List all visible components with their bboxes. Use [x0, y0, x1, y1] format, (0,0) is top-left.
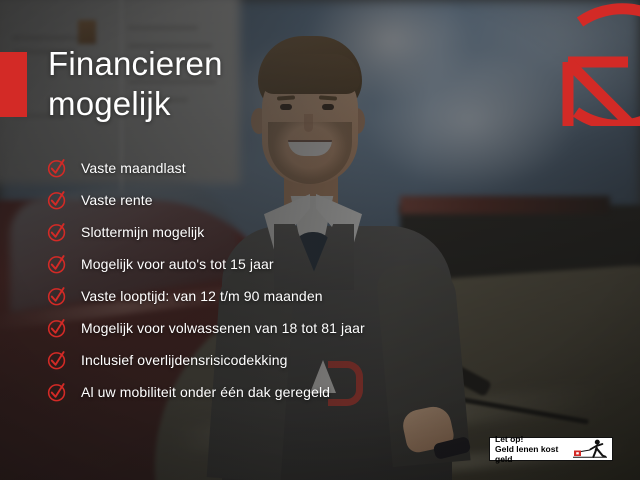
list-item: Vaste rente [46, 189, 365, 211]
check-circle-icon [46, 189, 68, 211]
list-item-label: Al uw mobiliteit onder één dak geregeld [81, 384, 330, 400]
list-item-label: Vaste looptijd: van 12 t/m 90 maanden [81, 288, 323, 304]
page-title: Financieren mogelijk [48, 44, 223, 124]
list-item: Al uw mobiliteit onder één dak geregeld [46, 381, 365, 403]
list-item-label: Vaste maandlast [81, 160, 186, 176]
list-item: Vaste looptijd: van 12 t/m 90 maanden [46, 285, 365, 307]
check-circle-icon [46, 317, 68, 339]
credit-warning-text: Let op! Geld lenen kost geld [495, 434, 573, 464]
list-item: Mogelijk voor volwassenen van 18 tot 81 … [46, 317, 365, 339]
check-circle-icon [46, 253, 68, 275]
check-circle-icon [46, 285, 68, 307]
walking-man-pulling-block-icon [573, 439, 607, 459]
check-circle-icon [46, 221, 68, 243]
list-item-label: Inclusief overlijdensrisicodekking [81, 352, 288, 368]
list-item: Vaste maandlast [46, 157, 365, 179]
list-item-label: Mogelijk voor auto's tot 15 jaar [81, 256, 274, 272]
list-item: Slottermijn mogelijk [46, 221, 365, 243]
list-item-label: Slottermijn mogelijk [81, 224, 204, 240]
list-item-label: Vaste rente [81, 192, 153, 208]
check-circle-icon [46, 381, 68, 403]
list-item-label: Mogelijk voor volwassenen van 18 tot 81 … [81, 320, 365, 336]
financing-banner: Financieren mogelijk Vaste maandlast [0, 0, 640, 480]
check-circle-icon [46, 157, 68, 179]
banner-content: Financieren mogelijk Vaste maandlast [0, 0, 640, 480]
credit-warning-badge: Let op! Geld lenen kost geld [489, 437, 613, 461]
list-item: Mogelijk voor auto's tot 15 jaar [46, 253, 365, 275]
feature-list: Vaste maandlast Vaste rente [46, 157, 365, 403]
check-circle-icon [46, 349, 68, 371]
list-item: Inclusief overlijdensrisicodekking [46, 349, 365, 371]
